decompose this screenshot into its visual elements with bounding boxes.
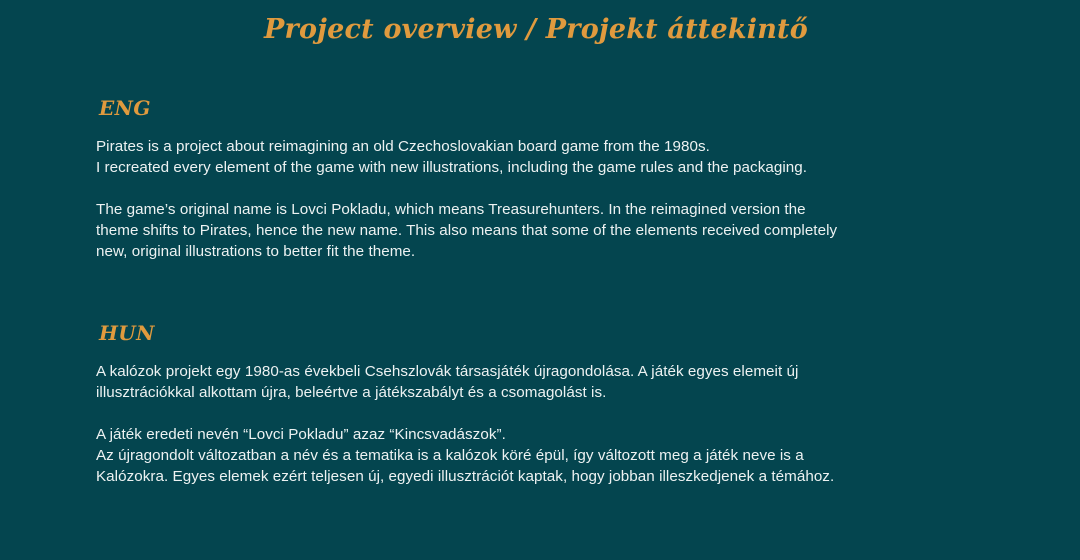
text-line: Kalózokra. Egyes elemek ezért teljesen ú… (96, 466, 1006, 487)
text-line: A játék eredeti nevén “Lovci Pokladu” az… (96, 424, 1006, 445)
paragraph: Pirates is a project about reimagining a… (96, 136, 1006, 178)
section-hun: HUN A kalózok projekt egy 1980-as évekbe… (96, 321, 1006, 487)
text-line: A kalózok projekt egy 1980-as évekbeli C… (96, 361, 1006, 382)
section-heading-hun: HUN (99, 321, 1006, 345)
text-line: I recreated every element of the game wi… (96, 157, 1006, 178)
text-line: illusztrációkkal alkottam újra, beleértv… (96, 382, 1006, 403)
text-line: Pirates is a project about reimagining a… (96, 136, 1006, 157)
paragraph: A kalózok projekt egy 1980-as évekbeli C… (96, 361, 1006, 403)
text-line: The game’s original name is Lovci Poklad… (96, 199, 1006, 220)
text-line: Az újragondolt változatban a név és a te… (96, 445, 1006, 466)
text-line: theme shifts to Pirates, hence the new n… (96, 220, 1006, 241)
text-line: new, original illustrations to better fi… (96, 241, 1006, 262)
project-overview-slide: Project overview / Projekt áttekintő ENG… (0, 0, 1080, 560)
page-title: Project overview / Projekt áttekintő (0, 14, 1072, 45)
paragraph: The game’s original name is Lovci Poklad… (96, 199, 1006, 262)
section-heading-eng: ENG (99, 96, 1006, 120)
section-eng: ENG Pirates is a project about reimagini… (96, 96, 1006, 262)
paragraph: A játék eredeti nevén “Lovci Pokladu” az… (96, 424, 1006, 487)
